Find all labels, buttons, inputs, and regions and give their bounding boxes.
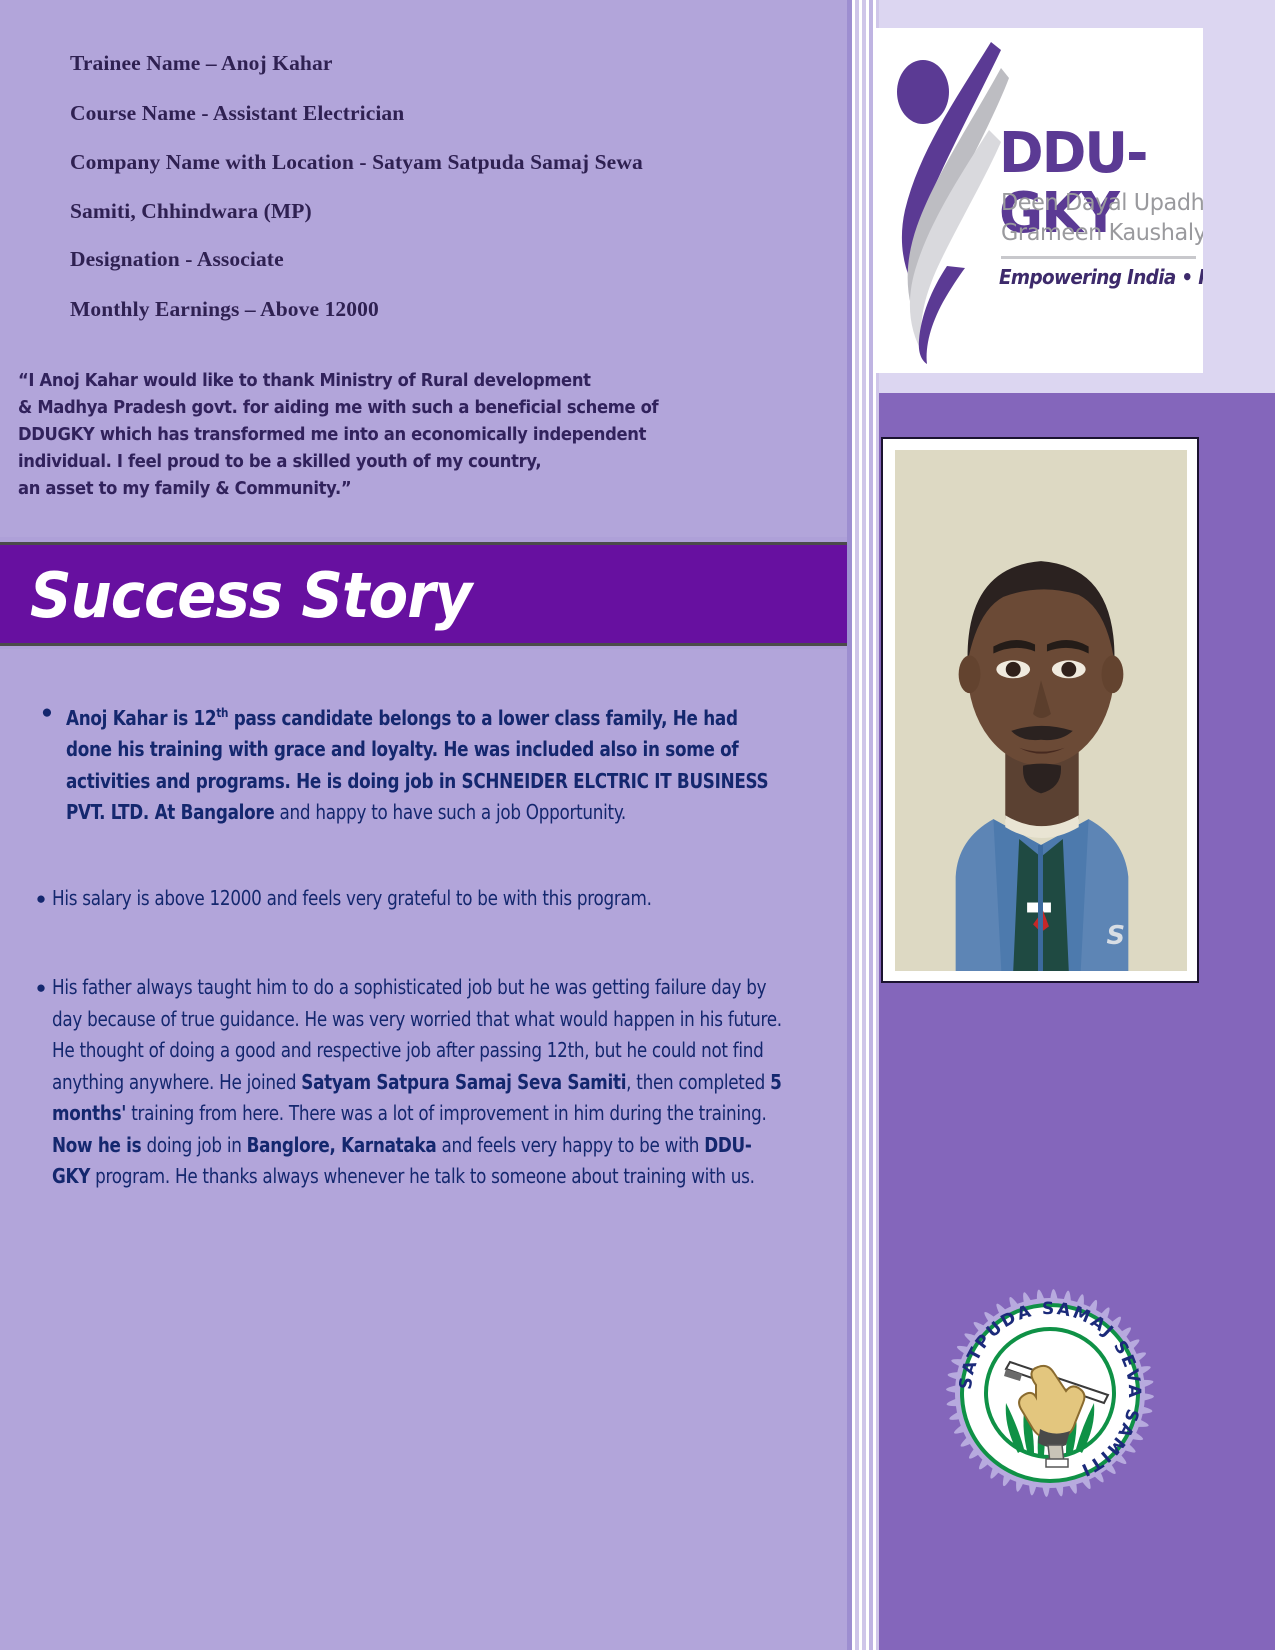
quote-line-1: “I Anoj Kahar would like to thank Minist… (18, 368, 781, 395)
company-name-line-1: Company Name with Location - Satyam Satp… (70, 151, 847, 174)
bullet-dot-icon: ● (28, 697, 66, 829)
quote-line-5: an asset to my family & Community.” (18, 476, 781, 503)
svg-text:S: S (1106, 921, 1125, 951)
story-bullet-1-text: Anoj Kahar is 12th pass candidate belong… (66, 697, 785, 829)
ddu-gky-logo: DDU-GKY Deen Dayal Upadhyaya Grameen Kau… (873, 28, 1203, 373)
quote-line-3: DDUGKY which has transformed me into an … (18, 422, 781, 449)
designation-line: Designation - Associate (70, 248, 847, 271)
trainee-portrait-illustration: S (895, 450, 1187, 971)
bullet1-superscript: th (216, 705, 228, 720)
bullet3-bold-location: Banglore, Karnataka (247, 1133, 437, 1157)
monthly-earnings-line: Monthly Earnings – Above 12000 (70, 298, 847, 321)
company-name-line-2: Samiti, Chhindwara (MP) (70, 200, 847, 223)
success-story-page: Trainee Name – Anoj Kahar Course Name - … (0, 0, 1275, 1650)
bullet3-mid2: training from here. There was a lot of i… (126, 1101, 766, 1125)
bullet3-bold-now: Now he is (52, 1133, 141, 1157)
quote-line-4: individual. I feel proud to be a skilled… (18, 449, 781, 476)
bullet-dot-icon: ● (30, 972, 52, 1193)
story-bullet-1: ● Anoj Kahar is 12th pass candidate belo… (0, 697, 847, 829)
ddu-gky-tagline: Empowering India • Powering the World (999, 264, 1203, 290)
ddu-gky-figure-icon (883, 34, 1013, 364)
trainee-photo-frame: S (881, 437, 1199, 983)
ddu-gky-subtitle-line-2: Grameen Kaushalya Yojana (1001, 218, 1203, 247)
story-body: ● Anoj Kahar is 12th pass candidate belo… (0, 649, 847, 1650)
banner-title: Success Story (30, 559, 471, 633)
story-bullet-2: ● His salary is above 12000 and feels ve… (0, 883, 847, 915)
bullet3-mid5: program. He thanks always whenever he ta… (90, 1164, 755, 1188)
bullet3-mid4: and feels very happy to be with (436, 1133, 704, 1157)
samiti-emblem-logo: SATYAM SATPUDA SAMAJ SEVA SAMITI (934, 1277, 1166, 1509)
bullet3-part1: His father always taught him to do a sop… (52, 975, 782, 1031)
bullet1-bold-a: Anoj Kahar is 12 (66, 706, 216, 730)
course-name-line: Course Name - Assistant Electrician (70, 102, 847, 125)
ddu-gky-divider (1001, 256, 1196, 259)
bullet3-mid3: doing job in (141, 1133, 246, 1157)
bullet3-mid1: , then completed (626, 1070, 770, 1094)
ddu-gky-subtitle-line-1: Deen Dayal Upadhyaya (1001, 188, 1203, 217)
testimonial-quote: “I Anoj Kahar would like to thank Minist… (18, 368, 781, 503)
story-bullet-2-text: His salary is above 12000 and feels very… (52, 883, 783, 915)
bullet1-regular: and happy to have such a job Opportunity… (274, 800, 625, 824)
story-bullet-3: ● His father always taught him to do a s… (0, 972, 847, 1193)
bullet3-bold-org: Satyam Satpura Samaj Seva Samiti (301, 1070, 626, 1094)
trainee-name-line: Trainee Name – Anoj Kahar (70, 52, 847, 75)
main-column: Trainee Name – Anoj Kahar Course Name - … (0, 0, 847, 1650)
trainee-photo: S (895, 450, 1187, 971)
bullet-dot-icon: ● (30, 883, 52, 915)
story-bullet-3-text: His father always taught him to do a sop… (52, 972, 783, 1193)
quote-line-2: & Madhya Pradesh govt. for aiding me wit… (18, 395, 781, 422)
success-story-banner: Success Story (0, 542, 847, 646)
